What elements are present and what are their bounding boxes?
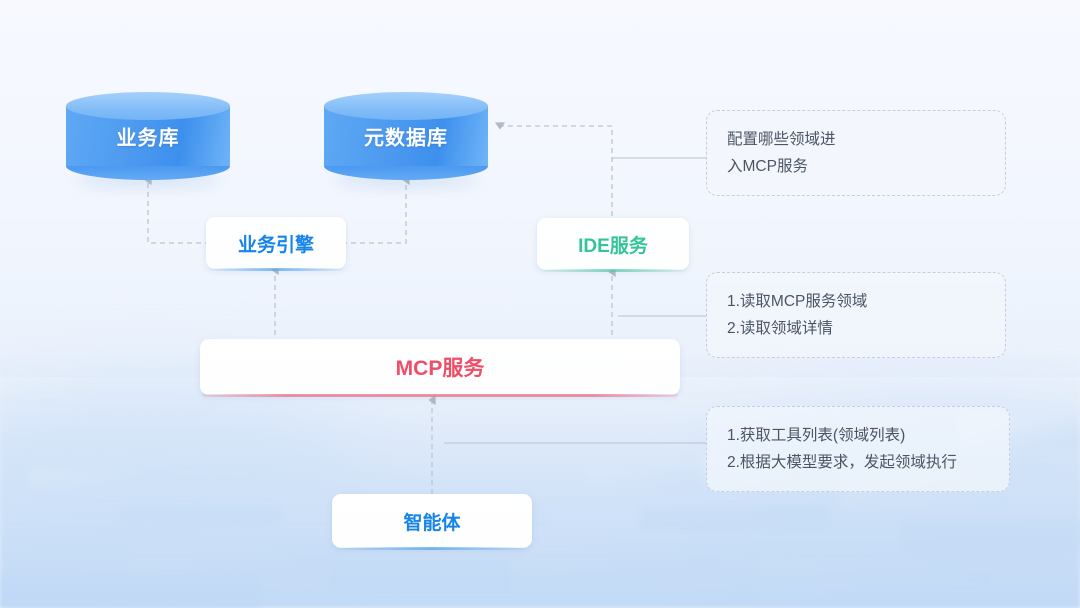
edge-engine-to-business-db <box>148 180 210 243</box>
note-line: 2.根据大模型要求，发起领域执行 <box>727 449 989 476</box>
cylinder-top <box>66 92 230 120</box>
background-block <box>585 470 705 500</box>
note-ide-config: 配置哪些领域进 入MCP服务 <box>706 110 1006 196</box>
node-label-ide-service: IDE服务 <box>578 231 648 258</box>
background-block <box>640 505 830 531</box>
node-label-business-engine: 业务引擎 <box>238 230 314 257</box>
note-line: 配置哪些领域进 <box>727 126 985 153</box>
background-block <box>130 545 340 571</box>
edge-ide-to-metadata-db <box>500 126 612 216</box>
node-business-db[interactable]: 业务库 <box>66 92 230 180</box>
node-agent[interactable]: 智能体 <box>332 494 532 548</box>
cylinder-top <box>324 92 488 120</box>
background-block <box>30 470 170 490</box>
note-line: 1.获取工具列表(领域列表) <box>727 422 989 449</box>
node-label-agent: 智能体 <box>403 508 460 535</box>
note-line: 2.读取领域详情 <box>727 315 985 342</box>
background-block <box>330 560 510 590</box>
node-label-business-db: 业务库 <box>66 122 230 151</box>
note-line: 入MCP服务 <box>727 153 985 180</box>
note-agent-tools: 1.获取工具列表(领域列表) 2.根据大模型要求，发起领域执行 <box>706 406 1010 492</box>
node-metadata-db[interactable]: 元数据库 <box>324 92 488 180</box>
background-block <box>900 520 1080 552</box>
note-mcp-read: 1.读取MCP服务领域 2.读取领域详情 <box>706 272 1006 358</box>
background-block <box>520 540 720 574</box>
diagram-canvas: 业务库 元数据库 业务引擎 IDE服务 MCP服务 智能体 配置哪些领域进 入M… <box>0 0 1080 608</box>
note-line: 1.读取MCP服务领域 <box>727 288 985 315</box>
node-label-metadata-db: 元数据库 <box>324 122 488 151</box>
background-block <box>760 560 990 600</box>
node-label-mcp-service: MCP服务 <box>396 352 485 382</box>
node-ide-service[interactable]: IDE服务 <box>537 218 689 270</box>
edge-engine-to-metadata-db <box>342 180 406 243</box>
node-mcp-service[interactable]: MCP服务 <box>200 339 680 395</box>
background-block <box>0 575 260 608</box>
background-haze-left <box>0 380 360 580</box>
node-business-engine[interactable]: 业务引擎 <box>206 217 346 269</box>
background-block <box>120 505 280 523</box>
